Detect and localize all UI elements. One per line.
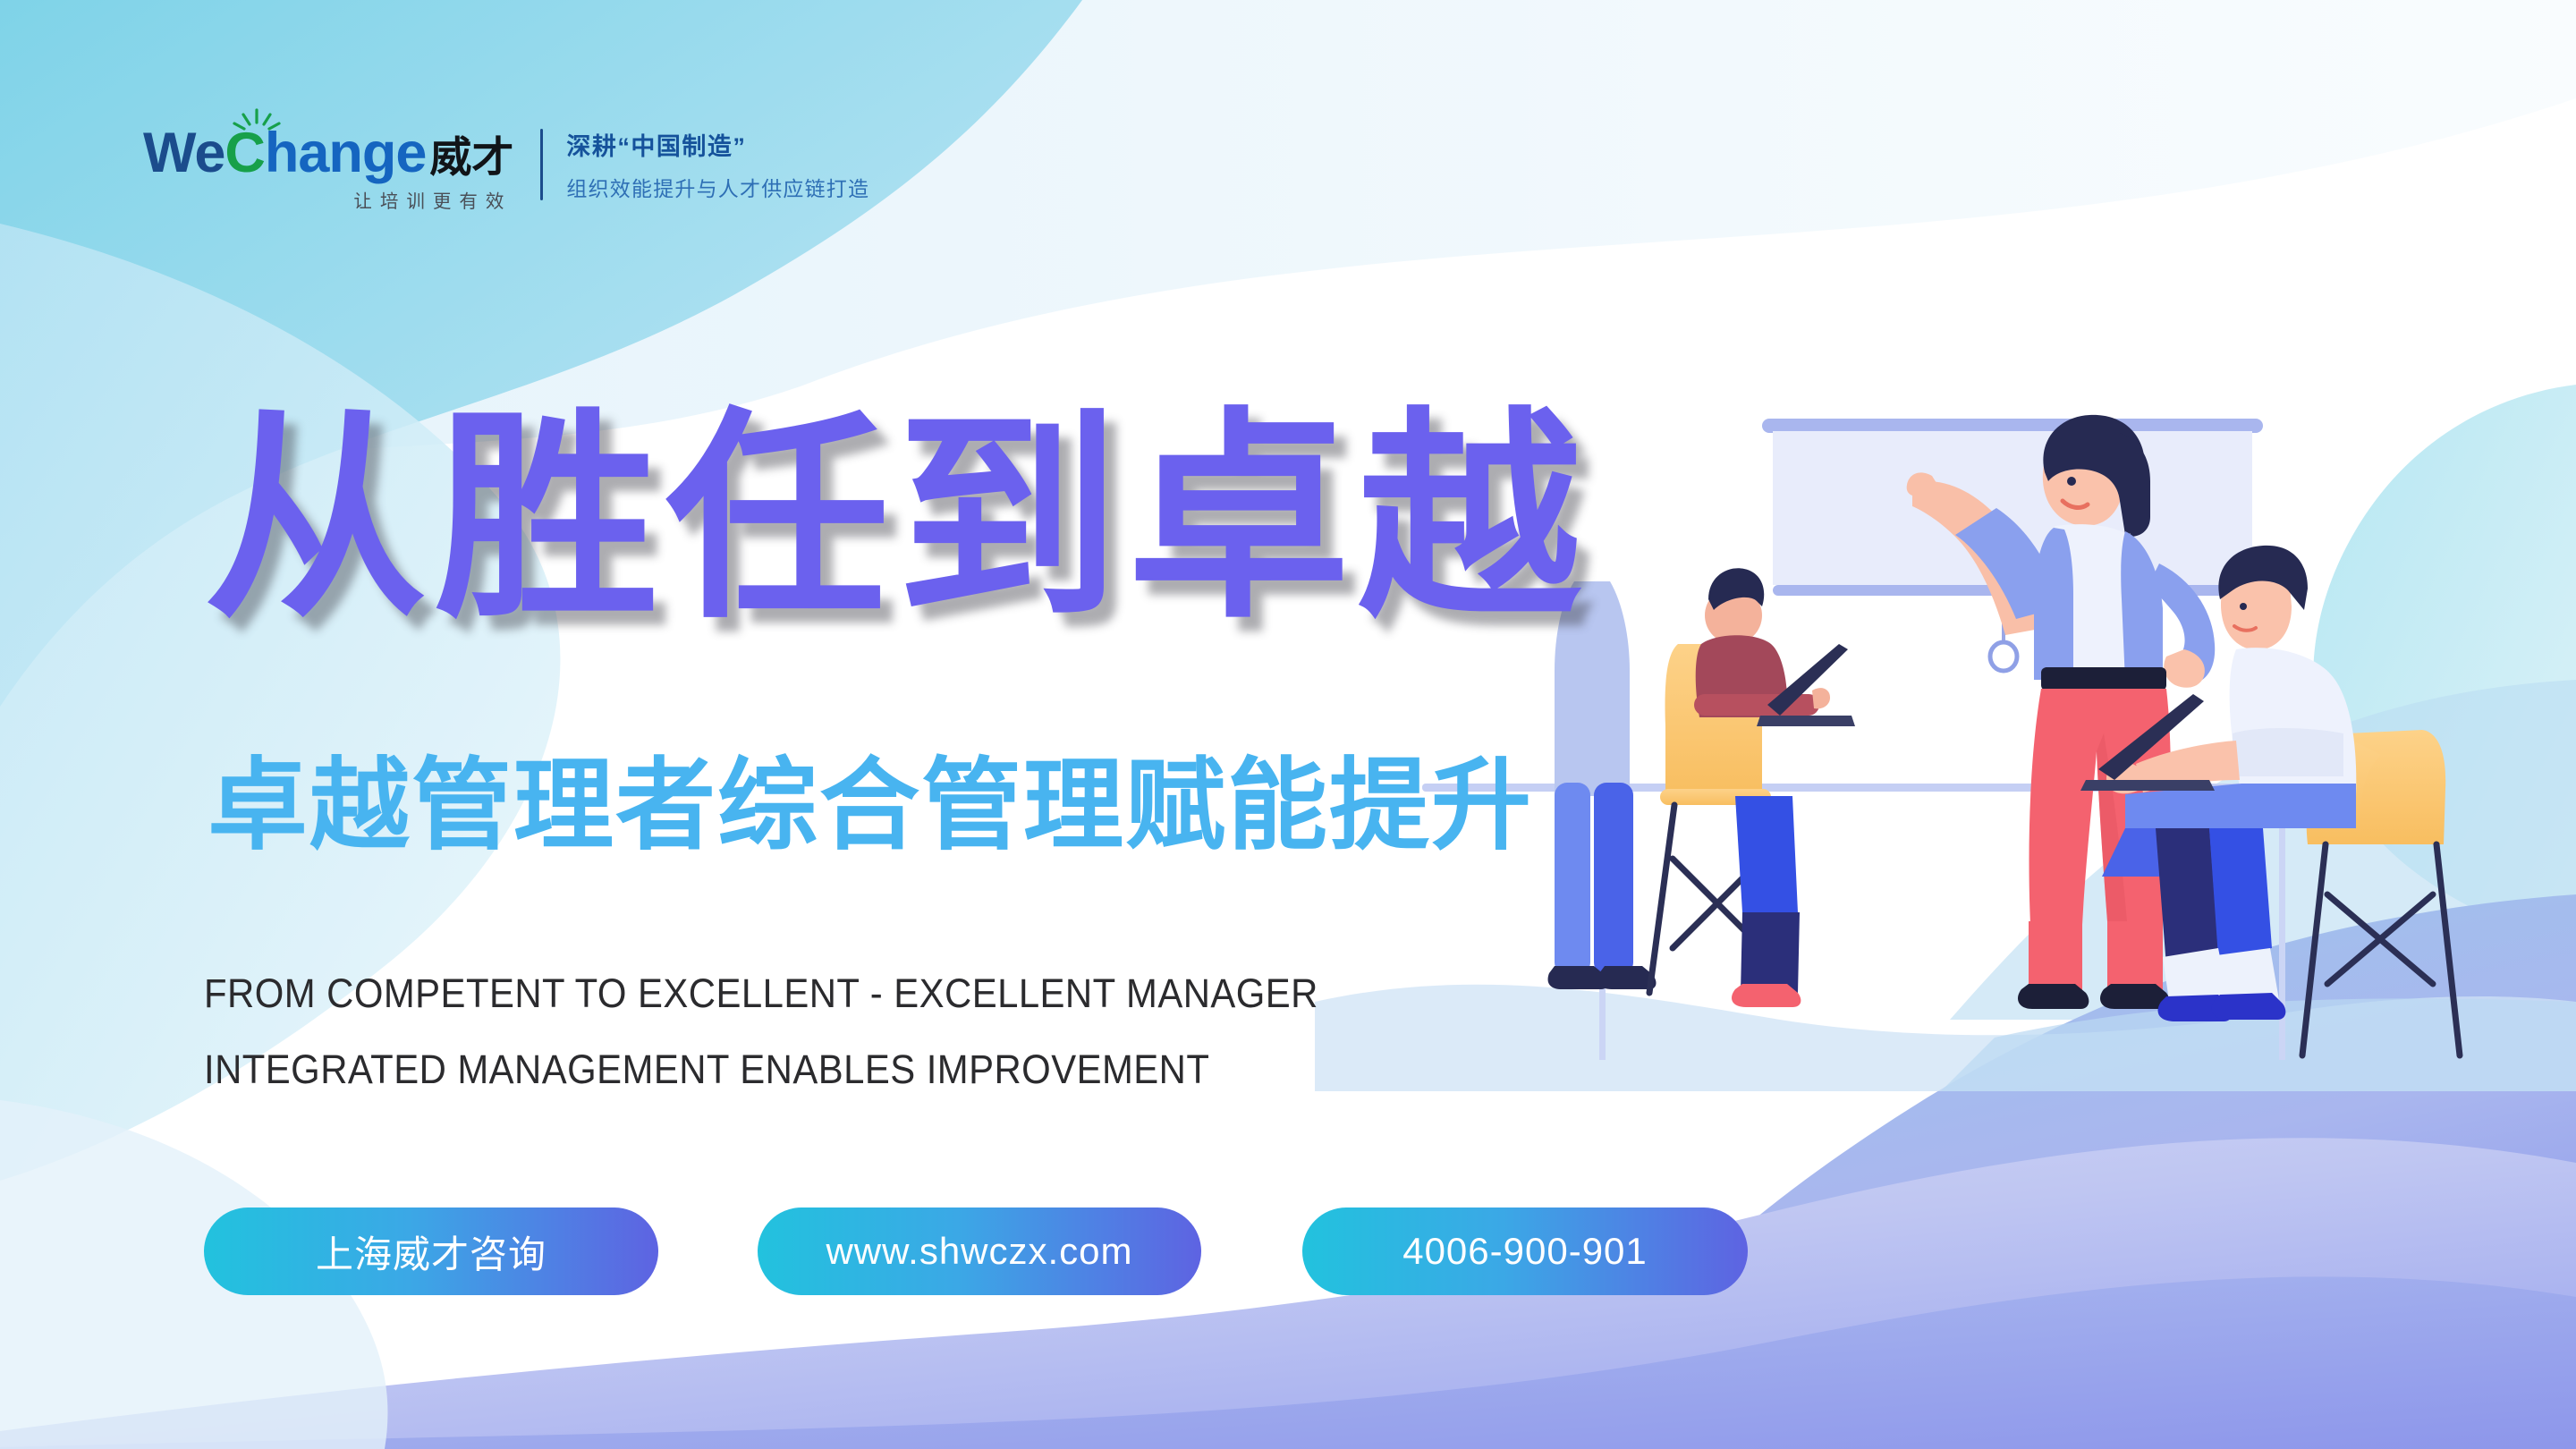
contact-pill-group: 上海威才咨询 www.shwczx.com 4006-900-901	[204, 1207, 1748, 1295]
logo-text-hange: hange	[265, 125, 427, 182]
phone-pill[interactable]: 4006-900-901	[1302, 1207, 1748, 1295]
sparkle-bulb-icon	[229, 108, 284, 137]
brand-slogan-line1: 深耕“中国制造”	[566, 127, 869, 162]
page-subtitle: 卓越管理者综合管理赋能提升	[208, 756, 1533, 856]
logo-divider	[540, 129, 543, 200]
page-title: 从胜任到卓越	[204, 402, 1589, 635]
english-subtitle-line1: FROM COMPETENT TO EXCELLENT - EXCELLENT …	[204, 970, 1318, 1017]
brand-logo[interactable]: We C hange 威才 让培训更有效 深耕“中国制造” 组	[143, 125, 869, 213]
logo-wordmark: We C hange 威才	[143, 125, 513, 182]
logo-tagline: 让培训更有效	[353, 186, 513, 213]
website-pill[interactable]: www.shwczx.com	[758, 1207, 1201, 1295]
poster-canvas: We C hange 威才 让培训更有效 深耕“中国制造” 组	[0, 0, 2576, 1449]
logo-left-group: We C hange 威才 让培训更有效	[143, 125, 513, 213]
logo-text-we: We	[143, 125, 225, 182]
brand-slogan-line2: 组织效能提升与人才供应链打造	[566, 172, 869, 202]
english-subtitle-line2: INTEGRATED MANAGEMENT ENABLES IMPROVEMEN…	[204, 1046, 1209, 1093]
brand-slogan-group: 深耕“中国制造” 组织效能提升与人才供应链打造	[566, 125, 869, 202]
company-pill[interactable]: 上海威才咨询	[204, 1207, 658, 1295]
logo-text-cn: 威才	[429, 136, 513, 178]
